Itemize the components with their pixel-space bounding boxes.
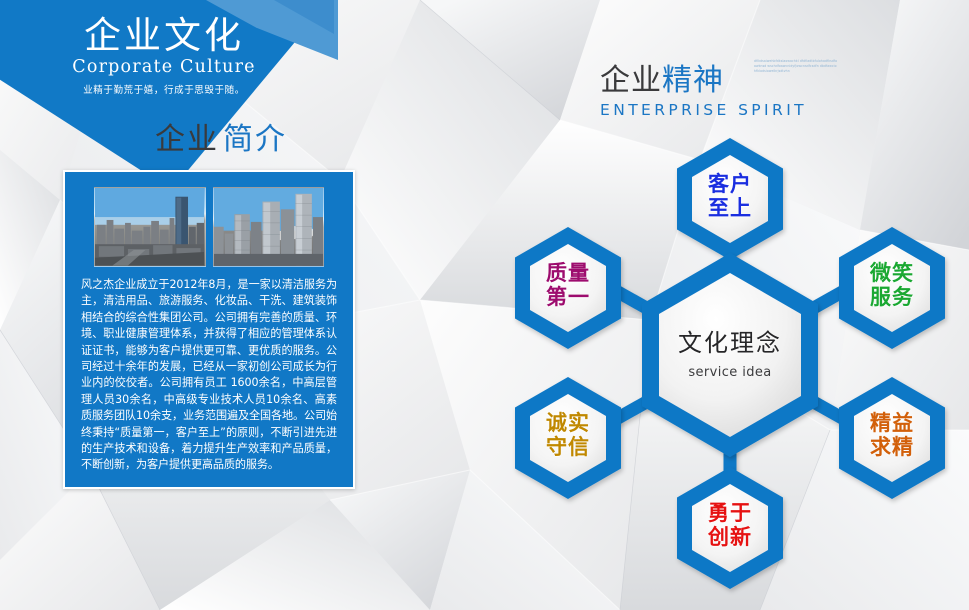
slide-canvas: 企业文化 Corporate Culture 业精于勤荒于嬉，行成于思毁于随。 … (0, 0, 969, 610)
city-skyline-photo (94, 187, 206, 267)
hex-node-center (642, 253, 818, 457)
enterprise-spirit-heading: 企业精神 ENTERPRISE SPIRIT dfikdsaiwehbfdksl… (600, 55, 807, 119)
banner-motto: 业精于勤荒于嬉，行成于思毁于随。 (34, 82, 294, 96)
spirit-heading-dark: 企业 (600, 63, 662, 98)
spirit-heading-en: ENTERPRISE SPIRIT (600, 101, 807, 119)
spirit-heading-blue: 精神 (662, 63, 724, 98)
culture-hexagon-diagram: 客户 至上 微笑 服务 精益 求精 勇于 创新 诚实 守信 质量 第一 文化理念… (480, 105, 969, 605)
corporate-culture-banner: 企业文化 Corporate Culture 业精于勤荒于嬉，行成于思毁于随。 (34, 16, 294, 96)
intro-heading-dark: 企业 (155, 122, 219, 157)
hex-node-honesty-trust (515, 377, 621, 499)
company-profile-text: 风之杰企业成立于2012年8月，是一家以清洁服务为主，清洁用品、旅游服务、化妆品… (81, 277, 337, 474)
hex-node-customer-first (677, 138, 783, 260)
photo-row (65, 172, 353, 267)
intro-heading-blue: 简介 (223, 122, 287, 157)
spirit-micro-text: dfikdsaiwehbfdkslaowachkl dfdfiadtbfuloh… (754, 59, 838, 85)
hexagon-svg (480, 105, 969, 605)
company-profile-card: 风之杰企业成立于2012年8月，是一家以清洁服务为主，清洁用品、旅游服务、化妆品… (63, 170, 355, 489)
hex-node-quality-first (515, 227, 621, 349)
banner-title-cn: 企业文化 (34, 16, 294, 55)
hex-node-excellence (839, 377, 945, 499)
hex-node-smile-service (839, 227, 945, 349)
banner-title-en: Corporate Culture (34, 57, 294, 77)
intro-heading: 企业简介 (155, 114, 287, 158)
hex-node-dare-to-innovate (677, 467, 783, 589)
skyscraper-photo (213, 187, 325, 267)
